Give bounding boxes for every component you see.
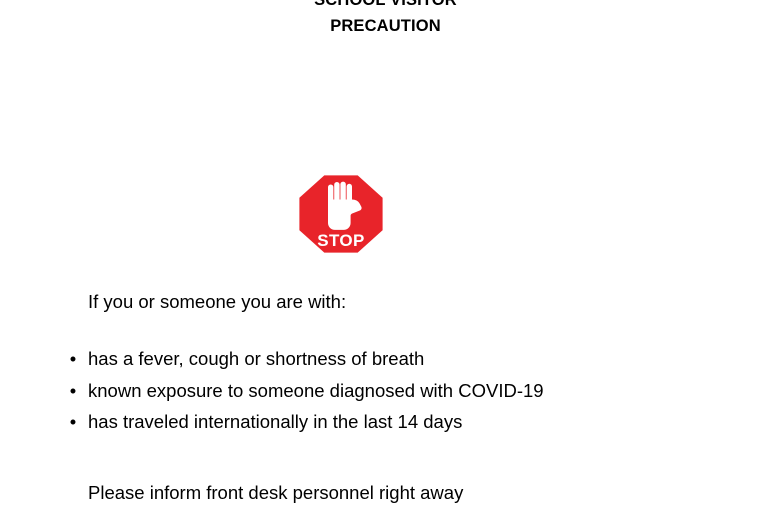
intro-text: If you or someone you are with: — [88, 290, 771, 314]
bullet-icon: • — [66, 375, 80, 407]
list-item: • known exposure to someone diagnosed wi… — [88, 375, 771, 407]
stop-sign-label: STOP — [317, 231, 365, 250]
list-item-label: has traveled internationally in the last… — [88, 411, 462, 432]
list-item: • has traveled internationally in the la… — [88, 406, 771, 438]
bullet-icon: • — [66, 406, 80, 438]
symptom-list: • has a fever, cough or shortness of bre… — [0, 343, 771, 438]
document-page: SCHOOL VISITOR PRECAUTION STOP If you or… — [0, 0, 771, 514]
bullet-icon: • — [66, 343, 80, 375]
closing-instruction: Please inform front desk personnel right… — [88, 481, 771, 505]
stop-sign-graphic: STOP — [296, 172, 386, 256]
page-title-line-1: SCHOOL VISITOR — [0, 0, 771, 13]
page-title-line-2: PRECAUTION — [0, 13, 771, 39]
list-item: • has a fever, cough or shortness of bre… — [88, 343, 771, 375]
page-title: SCHOOL VISITOR PRECAUTION — [0, 0, 771, 39]
stop-sign-icon: STOP — [296, 172, 386, 256]
list-item-label: has a fever, cough or shortness of breat… — [88, 348, 424, 369]
list-item-label: known exposure to someone diagnosed with… — [88, 380, 544, 401]
body-content: If you or someone you are with: • has a … — [0, 290, 771, 505]
